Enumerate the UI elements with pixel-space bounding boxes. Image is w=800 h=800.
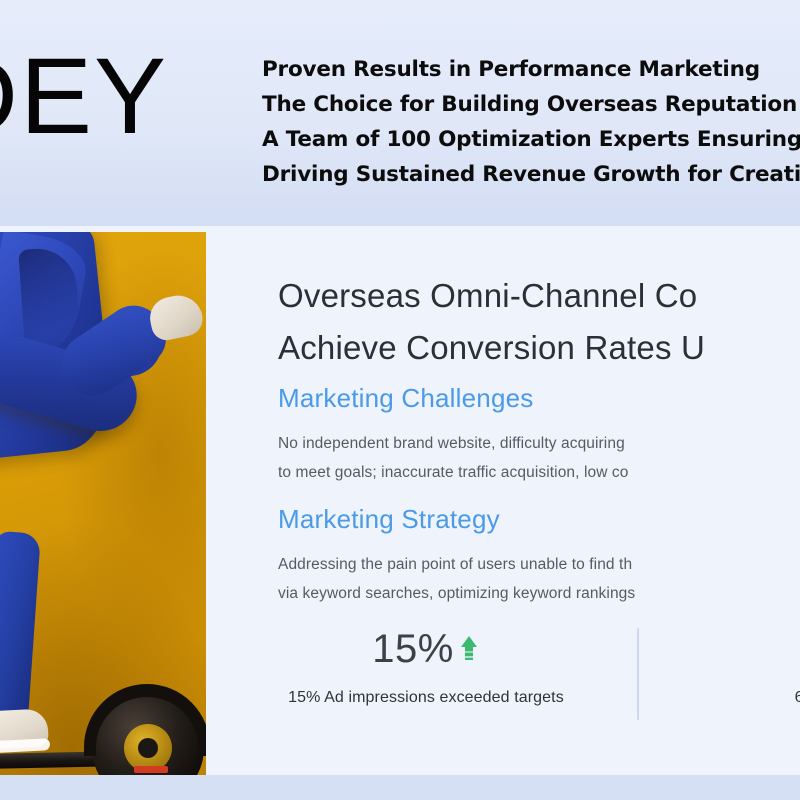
header-taglines: Proven Results in Performance Marketing …: [262, 52, 800, 192]
infographic-page: DEY Proven Results in Performance Market…: [0, 0, 800, 800]
strategy-body-line-1: Addressing the pain point of users unabl…: [278, 550, 800, 579]
challenges-body-line-2: to meet goals; inaccurate traffic acquis…: [278, 458, 800, 487]
arrow-up-icon: [458, 636, 480, 662]
section-body-challenges: No independent brand website, difficulty…: [278, 429, 800, 487]
main-title-line-1: Overseas Omni-Channel Co: [278, 270, 800, 322]
photo-scooter-reflector: [134, 766, 168, 773]
stat-value-row-1: 15%: [226, 624, 626, 674]
stat-card-creative: 63% 63%+ Creative surpass: [658, 624, 800, 738]
tagline-1: Proven Results in Performance Marketing: [262, 52, 800, 87]
tagline-3: A Team of 100 Optimization Experts Ensur…: [262, 122, 800, 157]
stat-card-ad-impressions: 15% 15% Ad impressions exceeded targets: [226, 624, 626, 711]
tagline-2: The Choice for Building Overseas Reputat…: [262, 87, 800, 122]
hero-photo: [0, 232, 206, 775]
strategy-body-line-2: via keyword searches, optimizing keyword…: [278, 579, 800, 608]
main-title: Overseas Omni-Channel Co Achieve Convers…: [278, 270, 800, 374]
stat-label-1: 15% Ad impressions exceeded targets: [226, 684, 626, 711]
section-body-strategy: Addressing the pain point of users unabl…: [278, 550, 800, 608]
stat-value-1: 15%: [372, 624, 454, 674]
section-heading-challenges: Marketing Challenges: [278, 381, 800, 415]
challenges-body-line-1: No independent brand website, difficulty…: [278, 429, 800, 458]
content-panel: Overseas Omni-Channel Co Achieve Convers…: [206, 226, 800, 775]
brand-logo: DEY: [0, 42, 168, 150]
header-band: DEY Proven Results in Performance Market…: [0, 0, 800, 226]
stats-row: 15% 15% Ad impressions exceeded targets …: [206, 624, 800, 754]
stat-label-2-line-2: surpass: [658, 711, 800, 738]
section-marketing-strategy: Marketing Strategy Addressing the pain p…: [278, 502, 800, 608]
footer-band: [0, 775, 800, 800]
section-marketing-challenges: Marketing Challenges No independent bran…: [278, 381, 800, 487]
stats-divider: [637, 628, 639, 720]
tagline-4: Driving Sustained Revenue Growth for Cre…: [262, 157, 800, 192]
stat-value-row-2: 63%: [658, 624, 800, 674]
stat-label-2-line-1: 63%+ Creative: [658, 684, 800, 711]
main-title-line-2: Achieve Conversion Rates U: [278, 322, 800, 374]
section-heading-strategy: Marketing Strategy: [278, 502, 800, 536]
